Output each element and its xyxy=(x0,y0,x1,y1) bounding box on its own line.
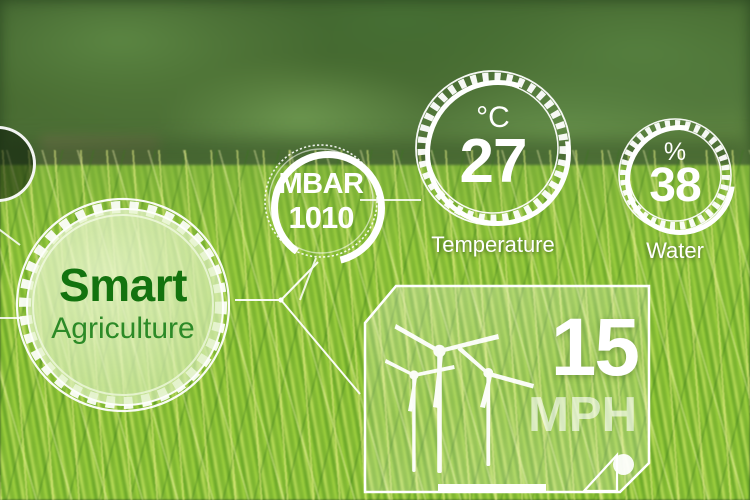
smart-agriculture-hub[interactable]: Smart Agriculture xyxy=(10,192,236,418)
gauge-pressure[interactable]: MBAR 1010 xyxy=(262,142,380,260)
temperature-value: 27 xyxy=(460,131,527,193)
wind-speed-panel[interactable]: 15 MPH xyxy=(362,283,652,495)
status-dot xyxy=(613,454,634,475)
hub-title-line1: Smart xyxy=(59,262,187,308)
temperature-caption: Temperature xyxy=(431,232,555,258)
pressure-value: 1010 xyxy=(289,202,354,233)
wind-speed-unit: MPH xyxy=(528,391,637,440)
water-value: 38 xyxy=(649,162,700,210)
pressure-unit-label: MBAR xyxy=(279,170,364,199)
smart-agriculture-infographic: Smart Agriculture MBAR 1010 °C 27 Temper… xyxy=(0,0,750,500)
gauge-water[interactable]: % 38 Water xyxy=(616,116,734,234)
hub-title-line2: Agriculture xyxy=(51,310,194,348)
partial-gauge-disc xyxy=(0,126,36,202)
wind-speed-value: 15 xyxy=(551,307,638,389)
gauge-temperature[interactable]: °C 27 Temperature xyxy=(413,68,573,228)
water-caption: Water xyxy=(646,238,704,264)
connector-node xyxy=(278,297,283,302)
